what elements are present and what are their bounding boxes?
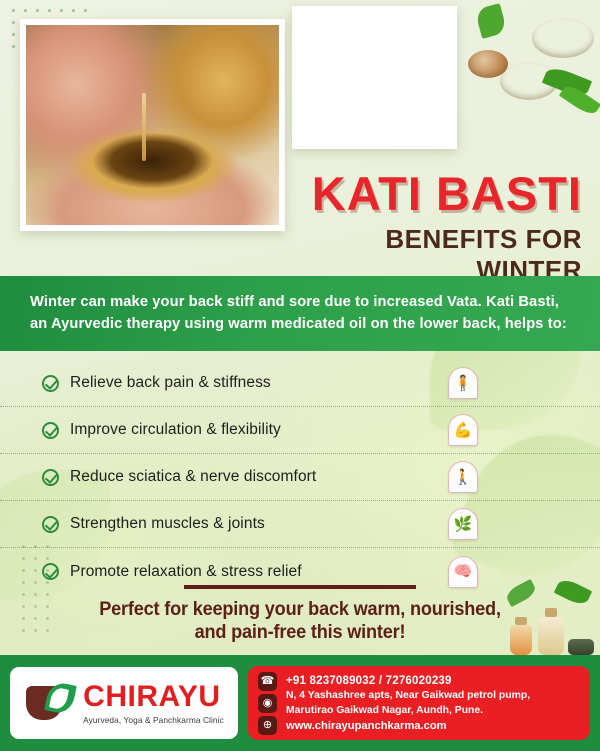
kati-basti-therapy-photo (20, 19, 285, 231)
list-item: Reduce sciatica & nerve discomfort 🚶 (0, 454, 600, 501)
sciatica-nerve-icon: 🚶 (448, 461, 478, 493)
location-pin-icon: ◉ (258, 694, 277, 713)
ayurvedic-herbs-illustration (440, 0, 600, 150)
globe-icon: ⊕ (258, 716, 277, 735)
intro-banner: Winter can make your back stiff and sore… (0, 276, 600, 351)
list-item: Strengthen muscles & joints 🌿 (0, 501, 600, 548)
clinic-tagline: Ayurveda, Yoga & Panchkarma Clinic (83, 715, 224, 725)
benefit-label: Promote relaxation & stress relief (70, 563, 302, 581)
benefit-label: Relieve back pain & stiffness (70, 374, 271, 392)
herbal-potli-photo (292, 6, 457, 149)
divider (184, 585, 416, 589)
oil-bottles-illustration (504, 583, 596, 655)
poster-title-block: KATI BASTI BENEFITS FOR WINTER (282, 172, 582, 286)
relaxation-lotus-head-icon: 🧠 (448, 556, 478, 588)
check-circle-icon (42, 375, 59, 392)
benefit-label: Reduce sciatica & nerve discomfort (70, 468, 316, 486)
list-item: Relieve back pain & stiffness 🧍 (0, 360, 600, 407)
page-title: KATI BASTI (282, 172, 582, 217)
mortar-leaf-logo-icon (24, 680, 76, 726)
check-circle-icon (42, 422, 59, 439)
poster-canvas: KATI BASTI BENEFITS FOR WINTER Winter ca… (0, 0, 600, 751)
phone-icon: ☎ (258, 672, 277, 691)
check-circle-icon (42, 563, 59, 580)
intro-text: Winter can make your back stiff and sore… (0, 292, 600, 335)
tagline-line-2: and pain-free this winter! (195, 621, 406, 643)
benefit-label: Improve circulation & flexibility (70, 421, 281, 439)
tagline-line-1: Perfect for keeping your back warm, nour… (99, 598, 501, 620)
check-circle-icon (42, 516, 59, 533)
contact-panel: ☎ ◉ ⊕ +91 8237089032 / 7276020239 N, 4 Y… (248, 666, 590, 740)
muscles-joints-icon: 🌿 (448, 508, 478, 540)
circulation-icon: 💪 (448, 414, 478, 446)
contact-phone[interactable]: +91 8237089032 / 7276020239 (286, 675, 530, 687)
contact-icons: ☎ ◉ ⊕ (258, 672, 277, 735)
footer-bar: CHIRAYU Ayurveda, Yoga & Panchkarma Clin… (0, 655, 600, 751)
check-circle-icon (42, 469, 59, 486)
list-item: Improve circulation & flexibility 💪 (0, 407, 600, 454)
clinic-name: CHIRAYU (83, 682, 220, 712)
contact-website[interactable]: www.chirayupanchkarma.com (286, 720, 530, 732)
clinic-logo: CHIRAYU Ayurveda, Yoga & Panchkarma Clin… (10, 667, 238, 739)
back-pain-icon: 🧍 (448, 367, 478, 399)
contact-address-line-2: Marutirao Gaikwad Nagar, Aundh, Pune. (286, 704, 530, 717)
benefit-label: Strengthen muscles & joints (70, 515, 265, 533)
benefits-list: Relieve back pain & stiffness 🧍 Improve … (0, 360, 600, 595)
contact-address-line-1: N, 4 Yashashree apts, Near Gaikwad petro… (286, 689, 530, 702)
